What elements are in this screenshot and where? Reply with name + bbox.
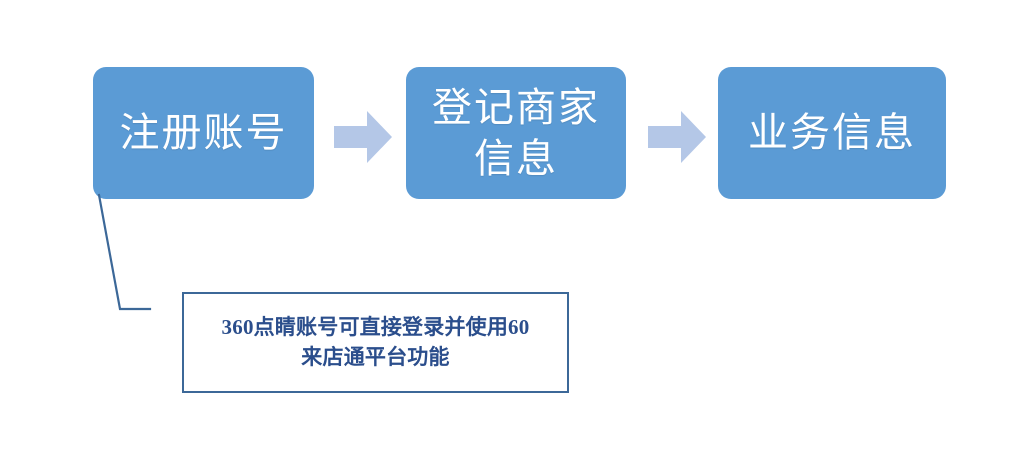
right-arrow-glyph bbox=[334, 111, 392, 163]
right-arrow-glyph bbox=[648, 111, 706, 163]
diagram-canvas: 注册账号 登记商家 信息 业务信息 360点睛账号可直接登录并使用60 来店通平… bbox=[0, 0, 1027, 452]
process-step-register-merchant-info[interactable]: 登记商家 信息 bbox=[406, 67, 626, 199]
process-step-business-info[interactable]: 业务信息 bbox=[718, 67, 946, 199]
right-arrow-icon bbox=[648, 111, 706, 163]
step-label: 业务信息 bbox=[748, 107, 916, 158]
process-step-register-account[interactable]: 注册账号 bbox=[93, 67, 314, 199]
right-arrow-icon bbox=[334, 111, 392, 163]
callout-note-box[interactable]: 360点睛账号可直接登录并使用60 来店通平台功能 bbox=[182, 292, 569, 393]
step-label: 登记商家 信息 bbox=[432, 82, 600, 184]
step-label: 注册账号 bbox=[120, 107, 288, 158]
callout-note-text: 360点睛账号可直接登录并使用60 来店通平台功能 bbox=[222, 313, 530, 373]
